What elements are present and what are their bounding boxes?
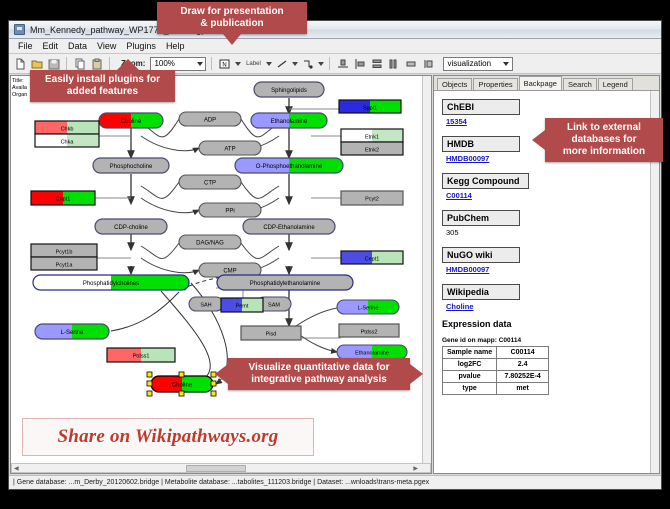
db-header-nugo-wiki: NuGO wiki (442, 247, 520, 263)
gene-ptdss1[interactable]: Ptdss1 (107, 348, 175, 362)
share-banner: Share on Wikipathways.org (22, 418, 314, 456)
toolbar-separator-2 (109, 57, 110, 70)
svg-text:Ptdss1: Ptdss1 (133, 354, 150, 360)
svg-text:Phosphocholine: Phosphocholine (110, 164, 153, 170)
svg-text:Etnk1: Etnk1 (365, 135, 379, 141)
node-l-serine-right[interactable]: L-Serine (337, 300, 399, 314)
callout-visualize-line2: integrative pathway analysis (236, 374, 402, 386)
callout-draw-line1: Draw for presentation (165, 6, 299, 18)
svg-text:Pemt: Pemt (236, 304, 249, 310)
svg-text:Chpt1: Chpt1 (56, 197, 71, 203)
svg-text:Ethanolamine: Ethanolamine (271, 119, 308, 125)
svg-text:O-Phosphoethanolamine: O-Phosphoethanolamine (256, 164, 323, 170)
expr-key-type: type (443, 383, 497, 395)
save-icon[interactable] (46, 56, 61, 71)
node-ethanolamine[interactable]: Ethanolamine (251, 113, 327, 128)
callout-tail-right-icon (410, 364, 423, 384)
tab-search[interactable]: Search (563, 78, 597, 90)
expression-data-title: Expression data (442, 319, 659, 329)
chevron-down-icon-line[interactable] (292, 62, 298, 66)
interaction-icon[interactable] (300, 56, 315, 71)
gene-pcyt1b[interactable]: Pcyt1b (31, 244, 97, 257)
node-adp[interactable]: ADP (179, 112, 241, 126)
svg-text:CDP-choline: CDP-choline (114, 225, 148, 231)
zoom-value: 100% (154, 59, 174, 68)
db-link-kegg-compound[interactable]: C00114 (446, 191, 659, 200)
screenshot-root: Mm_Kennedy_pathway_WP1771_45176.gpml Fil… (0, 0, 670, 509)
node-l-serine-left[interactable]: L-Serine (35, 324, 109, 339)
statusbar: | Gene database: ...m_Derby_20120602.bri… (9, 475, 661, 489)
svg-text:Sphingolipids: Sphingolipids (271, 88, 307, 94)
scroll-thumb[interactable] (186, 465, 246, 472)
svg-text:Sgpl1: Sgpl1 (363, 106, 377, 112)
callout-visualize-line1: Visualize quantitative data for (236, 362, 402, 374)
side-panel-tabs: Objects Properties Backpage Search Legen… (434, 76, 659, 91)
align-left-icon[interactable] (352, 56, 367, 71)
menubar: File Edit Data View Plugins Help (9, 39, 661, 54)
line-icon[interactable] (274, 56, 289, 71)
expr-key-sample-name: Sample name (443, 347, 497, 359)
menu-help[interactable]: Help (161, 41, 190, 51)
svg-text:ATP: ATP (224, 147, 235, 153)
menu-edit[interactable]: Edit (38, 41, 64, 51)
callout-draw: Draw for presentation & publication (157, 2, 307, 34)
gene-sgpl1[interactable]: Sgpl1 (339, 100, 401, 113)
db-link-nugo-wiki[interactable]: HMDB00097 (446, 265, 659, 274)
gene-pemt[interactable]: Pemt (221, 298, 263, 312)
node-cdp-ethanolamine[interactable]: CDP-Ethanolamine (243, 219, 335, 234)
expr-key-log2fc: log2FC (443, 359, 497, 371)
menu-view[interactable]: View (92, 41, 121, 51)
node-phosphatidylcholines[interactable]: Phosphatidylcholines (33, 275, 189, 290)
svg-text:Pisd: Pisd (266, 332, 277, 338)
datanode-icon[interactable]: N (217, 56, 232, 71)
svg-text:Pcyt2: Pcyt2 (365, 197, 379, 203)
svg-text:ADP: ADP (204, 118, 216, 124)
svg-text:Pcyt1a: Pcyt1a (56, 263, 74, 269)
table-row: Sample name C00114 (443, 347, 549, 359)
svg-text:CMP: CMP (223, 269, 236, 275)
svg-text:Ethanolamine: Ethanolamine (355, 351, 389, 357)
callout-tail-left-icon-2 (215, 364, 228, 384)
svg-text:CDP-Ethanolamine: CDP-Ethanolamine (263, 225, 315, 231)
chevron-down-icon-datanode[interactable] (235, 62, 241, 66)
node-cdp-choline[interactable]: CDP-choline (95, 219, 167, 234)
db-header-kegg-compound: Kegg Compound (442, 173, 529, 189)
svg-text:Etnk2: Etnk2 (365, 148, 379, 154)
svg-text:PPi: PPi (225, 209, 234, 215)
statusbar-text: | Gene database: ...m_Derby_20120602.bri… (13, 479, 429, 486)
callout-plugins-line2: added features (38, 86, 167, 98)
gene-chpt1[interactable]: Chpt1 (31, 191, 95, 205)
node-dag-nag[interactable]: DAG/NAG (179, 235, 241, 249)
svg-text:Choline: Choline (172, 383, 193, 389)
canvas-horizontal-scrollbar[interactable]: ◀ ▶ (11, 463, 431, 473)
toolbar-separator-3 (211, 57, 212, 70)
node-ppi[interactable]: PPi (199, 203, 261, 217)
scroll-left-arrow-icon[interactable]: ◀ (12, 465, 19, 472)
menu-plugins[interactable]: Plugins (121, 41, 161, 51)
visualization-value: visualization (447, 59, 491, 68)
node-phosphatidylethanolamine[interactable]: Phosphatidylethanolamine (217, 275, 353, 290)
node-sphingolipids[interactable]: Sphingolipids (254, 82, 324, 97)
table-row: type met (443, 383, 549, 395)
tab-legend[interactable]: Legend (598, 78, 633, 90)
window-titlebar: Mm_Kennedy_pathway_WP1771_45176.gpml (9, 21, 661, 39)
toolbar-separator-4 (329, 57, 330, 70)
svg-text:Chkb: Chkb (61, 127, 74, 133)
align-bottom-icon[interactable] (335, 56, 350, 71)
chevron-down-icon (197, 62, 203, 66)
node-atp[interactable]: ATP (199, 141, 261, 155)
svg-text:Chka: Chka (61, 140, 75, 146)
svg-text:Choline: Choline (121, 119, 142, 125)
expr-value-sample-name: C00114 (497, 347, 549, 359)
copy-icon[interactable] (72, 56, 87, 71)
svg-text:Phosphatidylethanolamine: Phosphatidylethanolamine (250, 281, 321, 287)
callout-links-line2: databases for (553, 134, 655, 146)
callout-links-line1: Link to external (553, 122, 655, 134)
callout-links-line3: more information (553, 146, 655, 158)
gene-cept1[interactable]: Cept1 (341, 251, 403, 264)
db-header-pubchem: PubChem (442, 210, 520, 226)
same-width-icon[interactable] (403, 56, 418, 71)
gene-ptdss2[interactable]: Ptdss2 (339, 324, 399, 337)
gene-pisd[interactable]: Pisd (241, 326, 301, 340)
callout-visualize: Visualize quantitative data for integrat… (228, 358, 410, 390)
callout-tail-up-icon (117, 59, 139, 70)
menu-file[interactable]: File (13, 41, 38, 51)
tab-properties[interactable]: Properties (473, 78, 517, 90)
db-header-hmdb: HMDB (442, 136, 520, 152)
pathvisio-app-icon (14, 24, 25, 35)
expr-value-pvalue: 7.80252E-4 (497, 371, 549, 383)
table-row: pvalue 7.80252E-4 (443, 371, 549, 383)
expression-table: Sample name C00114 log2FC 2.4 pvalue 7.8… (442, 346, 549, 395)
share-banner-text: Share on Wikipathways.org (58, 426, 279, 448)
label-icon[interactable]: Label (243, 56, 263, 71)
gene-pcyt1a[interactable]: Pcyt1a (31, 257, 97, 270)
distribute-icon[interactable] (386, 56, 401, 71)
expr-key-pvalue: pvalue (443, 371, 497, 383)
node-ctp[interactable]: CTP (179, 175, 241, 189)
new-file-icon[interactable] (12, 56, 27, 71)
node-phosphocholine[interactable]: Phosphocholine (93, 158, 169, 173)
svg-text:L-Serine: L-Serine (358, 306, 379, 312)
node-ethanolamine-right[interactable]: Ethanolamine (337, 345, 407, 359)
svg-text:N: N (222, 62, 226, 68)
db-header-wikipedia: Wikipedia (442, 284, 520, 300)
canvas-vertical-scrollbar[interactable] (422, 76, 431, 463)
gene-chka[interactable]: Chka (35, 134, 99, 147)
gene-etnk2[interactable]: Etnk2 (341, 142, 403, 155)
svg-text:Ptdss2: Ptdss2 (361, 330, 378, 336)
same-height-icon[interactable] (420, 56, 435, 71)
node-o-phosphoethanolamine[interactable]: O-Phosphoethanolamine (235, 158, 343, 173)
svg-text:CTP: CTP (204, 181, 216, 187)
svg-text:SAM: SAM (268, 303, 280, 309)
table-row: log2FC 2.4 (443, 359, 549, 371)
node-choline-selected[interactable]: Choline (147, 372, 216, 396)
paste-icon[interactable] (89, 56, 104, 71)
chevron-down-icon-interaction[interactable] (318, 62, 324, 66)
tab-objects[interactable]: Objects (437, 78, 472, 90)
db-value-pubchem: 305 (446, 228, 659, 237)
callout-plugins: Easily install plugins for added feature… (30, 70, 175, 102)
callout-tail-left-icon (532, 130, 545, 150)
svg-text:Pcyt1b: Pcyt1b (56, 250, 73, 256)
menu-data[interactable]: Data (63, 41, 92, 51)
gene-pcyt2[interactable]: Pcyt2 (341, 191, 403, 205)
db-link-wikipedia[interactable]: Choline (446, 302, 659, 311)
node-sah[interactable]: SAH (189, 297, 223, 311)
zoom-combobox[interactable]: 100% (150, 57, 206, 71)
callout-tail-down-icon (223, 34, 241, 45)
callout-external-links: Link to external databases for more info… (545, 118, 663, 162)
callout-plugins-line1: Easily install plugins for (38, 74, 167, 86)
pathway-canvas[interactable]: Title: Availa Organ (10, 75, 432, 474)
expr-value-log2fc: 2.4 (497, 359, 549, 371)
svg-text:SAH: SAH (200, 303, 211, 309)
expr-value-type: met (497, 383, 549, 395)
svg-text:L-Serine: L-Serine (61, 330, 84, 336)
db-header-chebi: ChEBI (442, 99, 520, 115)
scroll-right-arrow-icon[interactable]: ▶ (413, 465, 430, 472)
node-choline-top[interactable]: Choline (99, 113, 163, 128)
pathway-diagram: Sphingolipids Choline Ethanolamine (11, 76, 431, 474)
toolbar-separator (66, 57, 67, 70)
open-folder-icon[interactable] (29, 56, 44, 71)
chevron-down-icon-visualization (503, 62, 509, 66)
gene-chkb[interactable]: Chkb (35, 121, 99, 134)
visualization-combobox[interactable]: visualization (443, 57, 513, 71)
stack-center-icon[interactable] (369, 56, 384, 71)
svg-text:Cept1: Cept1 (365, 257, 380, 263)
chevron-down-icon-label[interactable] (266, 62, 272, 66)
svg-text:DAG/NAG: DAG/NAG (196, 241, 224, 247)
gene-etnk1[interactable]: Etnk1 (341, 129, 403, 142)
callout-draw-line2: & publication (165, 18, 299, 30)
tab-backpage[interactable]: Backpage (519, 76, 562, 90)
svg-text:Phosphatidylcholines: Phosphatidylcholines (83, 281, 139, 287)
gene-id-line: Gene id on mapp: C00114 (442, 337, 659, 344)
